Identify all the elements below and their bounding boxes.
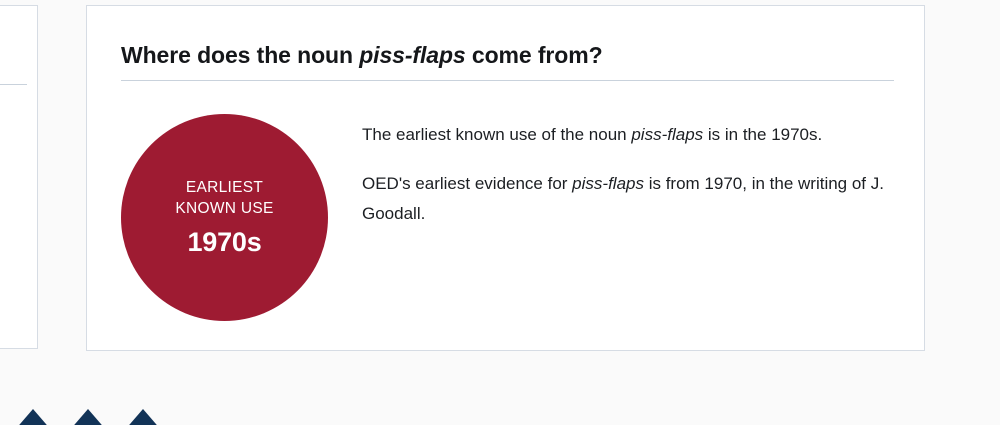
inline-text: is in the 1970s.	[703, 125, 822, 144]
triangle-up-icon	[14, 409, 52, 425]
paragraph-evidence: OED's earliest evidence for piss-flaps i…	[362, 169, 892, 229]
entry-body: EARLIEST KNOWN USE 1970s The earliest kn…	[121, 114, 900, 321]
entry-card: Where does the noun piss-flaps come from…	[86, 5, 925, 351]
adjacent-entry-card: g	[0, 5, 38, 349]
heading-text-before: Where does the noun	[121, 42, 359, 68]
page-title: Where does the noun piss-flaps come from…	[121, 42, 603, 69]
badge-label-line-2: KNOWN USE	[175, 198, 273, 219]
adjacent-card-divider	[0, 84, 27, 85]
badge-value: 1970s	[187, 226, 261, 258]
inline-term: piss-flaps	[631, 125, 703, 144]
inline-term: piss-flaps	[572, 174, 644, 193]
badge-label-line-1: EARLIEST	[175, 177, 273, 198]
paragraph-earliest-use: The earliest known use of the noun piss-…	[362, 120, 892, 150]
triangle-up-icon	[69, 409, 107, 425]
inline-text: OED's earliest evidence for	[362, 174, 572, 193]
heading-text-after: come from?	[466, 42, 603, 68]
inline-text: The earliest known use of the noun	[362, 125, 631, 144]
badge-label: EARLIEST KNOWN USE	[175, 177, 273, 219]
entry-prose: The earliest known use of the noun piss-…	[362, 114, 892, 229]
adjacent-card-text-fragment: g	[0, 110, 33, 140]
triangle-up-icon	[124, 409, 162, 425]
decorative-triangle-row	[14, 409, 162, 425]
heading-divider	[121, 80, 894, 81]
heading-term: piss-flaps	[359, 42, 465, 68]
earliest-known-use-badge: EARLIEST KNOWN USE 1970s	[121, 114, 328, 321]
